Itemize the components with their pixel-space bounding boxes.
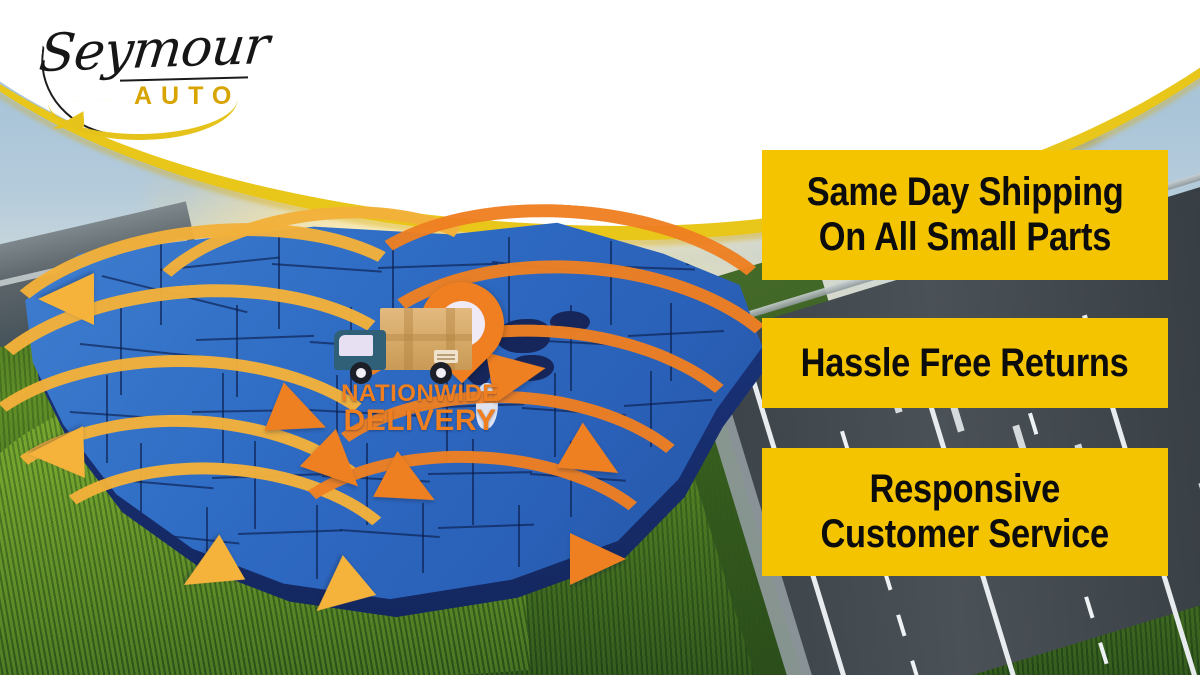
feature-line: Same Day Shipping: [807, 170, 1124, 215]
delivery-truck-icon: [334, 308, 474, 384]
truck-box-tape: [380, 334, 472, 341]
arrow-head: [570, 533, 626, 585]
promo-banner: Seymour AUTO NATIONWIDE: [0, 0, 1200, 675]
logo-script-name: Seymour: [36, 16, 271, 84]
feature-line: Hassle Free Returns: [801, 341, 1129, 386]
feature-box-responsive-customer-service[interactable]: Responsive Customer Service: [762, 448, 1168, 576]
feature-line: Responsive: [870, 467, 1061, 512]
feature-box-same-day-shipping[interactable]: Same Day Shipping On All Small Parts: [762, 150, 1168, 280]
truck-window: [339, 335, 373, 356]
feature-line: Customer Service: [821, 512, 1109, 557]
feature-line: On All Small Parts: [819, 215, 1111, 260]
arrow-head: [27, 426, 85, 480]
feature-box-hassle-free-returns[interactable]: Hassle Free Returns: [762, 318, 1168, 408]
badge-line-1: NATIONWIDE: [320, 382, 520, 406]
badge-caption: NATIONWIDE DELIVERY: [320, 382, 520, 437]
truck-box-label: [434, 350, 458, 363]
nationwide-delivery-badge: NATIONWIDE DELIVERY: [320, 282, 520, 452]
brand-logo[interactable]: Seymour AUTO: [24, 16, 254, 126]
badge-line-2: DELIVERY: [320, 406, 520, 437]
arrow-head: [38, 273, 94, 325]
